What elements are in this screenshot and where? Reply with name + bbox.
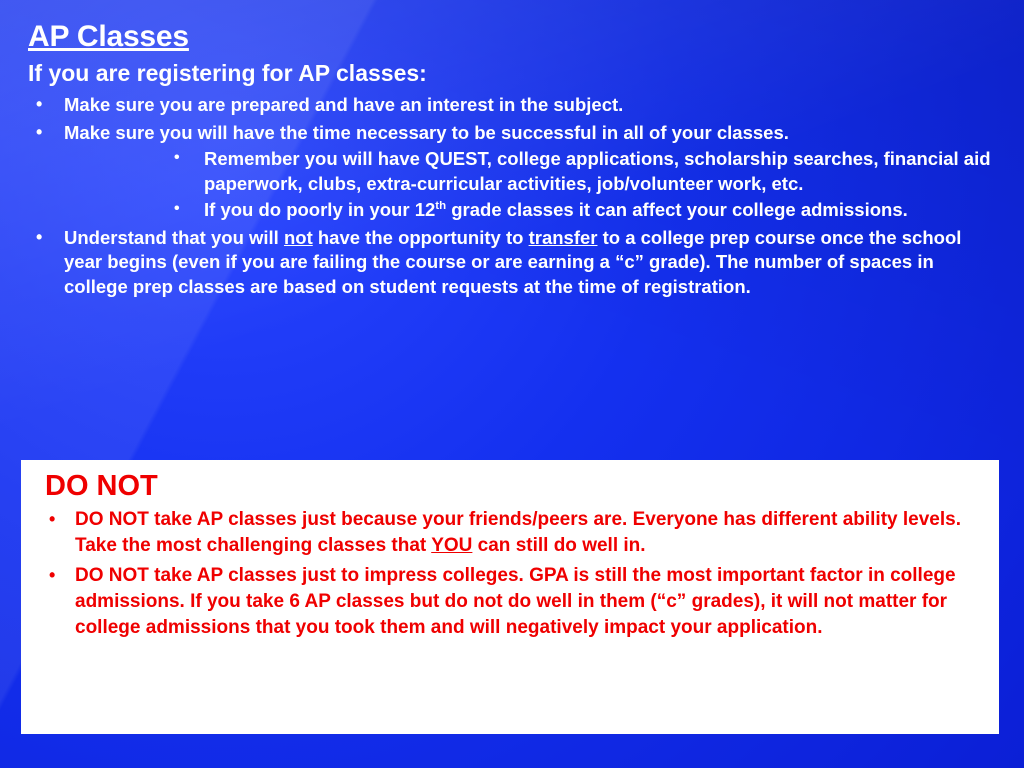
list-item-text: If you do poorly in your 12th grade clas… — [204, 199, 908, 220]
bullet-icon: • — [174, 147, 180, 168]
bullet-icon: • — [36, 121, 42, 145]
slide-body-top: AP Classes If you are registering for AP… — [28, 20, 996, 299]
do-not-bullet-list: • DO NOT take AP classes just because yo… — [35, 507, 985, 640]
list-item: • DO NOT take AP classes just to impress… — [43, 563, 985, 640]
list-item: • If you do poorly in your 12th grade cl… — [160, 198, 996, 223]
bullet-icon: • — [49, 507, 55, 531]
list-item: • Understand that you will not have the … — [28, 226, 996, 299]
list-item-text: DO NOT take AP classes just because your… — [75, 509, 961, 556]
list-item-text: DO NOT take AP classes just to impress c… — [75, 565, 956, 638]
bullet-icon: • — [36, 226, 42, 250]
list-item: • DO NOT take AP classes just because yo… — [43, 507, 985, 559]
list-item: • Make sure you will have the time neces… — [28, 121, 996, 223]
sub-bullet-list: • Remember you will have QUEST, college … — [64, 147, 996, 223]
slide-canvas: AP Classes If you are registering for AP… — [0, 0, 1024, 768]
list-item-text: Remember you will have QUEST, college ap… — [204, 148, 991, 194]
do-not-heading: DO NOT — [45, 470, 985, 503]
page-title: AP Classes — [28, 20, 996, 54]
bullet-icon: • — [174, 198, 180, 219]
main-bullet-list: • Make sure you are prepared and have an… — [28, 93, 996, 299]
do-not-callout-box: DO NOT • DO NOT take AP classes just bec… — [21, 460, 999, 734]
bullet-icon: • — [36, 93, 42, 117]
list-item: • Remember you will have QUEST, college … — [160, 147, 996, 196]
slide-subtitle: If you are registering for AP classes: — [28, 60, 996, 88]
list-item-text: Make sure you will have the time necessa… — [64, 122, 789, 143]
bullet-icon: • — [49, 563, 55, 587]
list-item-text: Make sure you are prepared and have an i… — [64, 94, 623, 115]
list-item: • Make sure you are prepared and have an… — [28, 93, 996, 117]
list-item-text: Understand that you will not have the op… — [64, 227, 961, 297]
